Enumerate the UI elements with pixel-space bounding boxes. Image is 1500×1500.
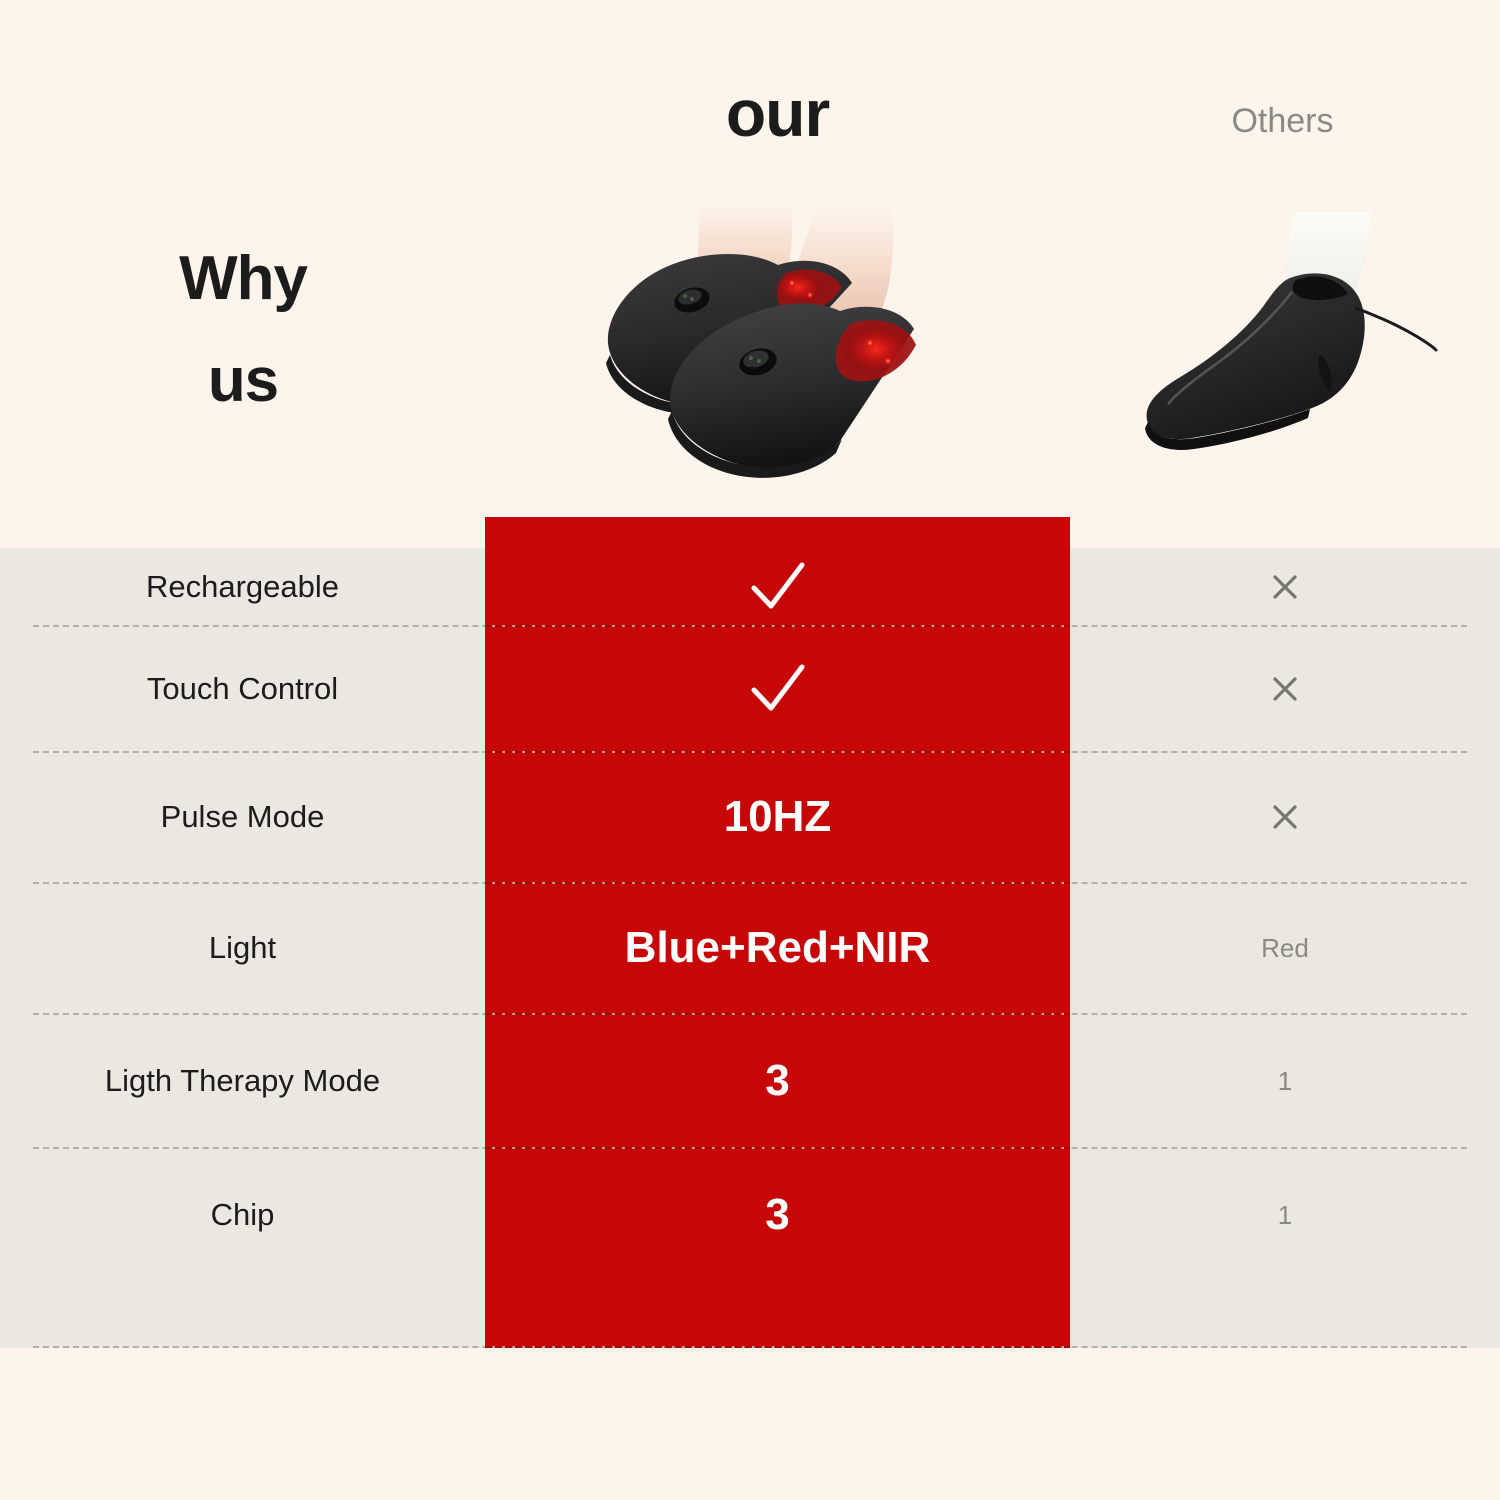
bottom-background-band [0, 1348, 1500, 1500]
table-row: Chip 3 1 [0, 1148, 1500, 1281]
our-value: Blue+Red+NIR [485, 926, 1070, 970]
table-row: Light Blue+Red+NIR Red [0, 883, 1500, 1013]
others-column-header: Others [1070, 104, 1495, 138]
table-row: Rechargeable [0, 548, 1500, 625]
feature-label: Pulse Mode [0, 797, 485, 837]
feature-label: Light [0, 928, 485, 968]
comparison-infographic: Why us our Others [0, 0, 1500, 1500]
table-row: Touch Control [0, 626, 1500, 751]
others-value [1070, 802, 1500, 832]
feature-label: Touch Control [0, 669, 485, 709]
feature-label: Rechargeable [0, 567, 485, 607]
cross-icon [1270, 572, 1300, 602]
bootie-illustration [1120, 212, 1450, 500]
our-value [485, 561, 1070, 613]
row-divider-bottom [33, 1346, 1467, 1348]
table-row: Pulse Mode 10HZ [0, 752, 1500, 882]
our-value [485, 663, 1070, 715]
others-value [1070, 673, 1500, 703]
why-us-line1: Why [33, 228, 453, 330]
our-value: 10HZ [485, 795, 1070, 839]
our-product-image [540, 205, 960, 495]
why-us-title: Why us [33, 228, 453, 433]
feature-label: Ligth Therapy Mode [0, 1061, 485, 1101]
table-row: Ligth Therapy Mode 3 1 [0, 1014, 1500, 1147]
others-value: Red [1070, 935, 1500, 961]
our-value: 3 [485, 1193, 1070, 1237]
check-icon [749, 663, 807, 715]
slippers-illustration [540, 205, 960, 495]
others-value: 1 [1070, 1202, 1500, 1228]
others-value [1070, 571, 1500, 601]
check-icon [749, 561, 807, 613]
others-product-image [1120, 212, 1450, 500]
cross-icon [1270, 674, 1300, 704]
our-value: 3 [485, 1059, 1070, 1103]
others-value: 1 [1070, 1068, 1500, 1094]
why-us-line2: us [33, 330, 453, 432]
our-column-header: our [485, 80, 1070, 146]
power-cable [1356, 308, 1436, 350]
cross-icon [1270, 802, 1300, 832]
feature-label: Chip [0, 1195, 485, 1235]
comparison-table: Rechargeable Touch Control [0, 548, 1500, 1348]
